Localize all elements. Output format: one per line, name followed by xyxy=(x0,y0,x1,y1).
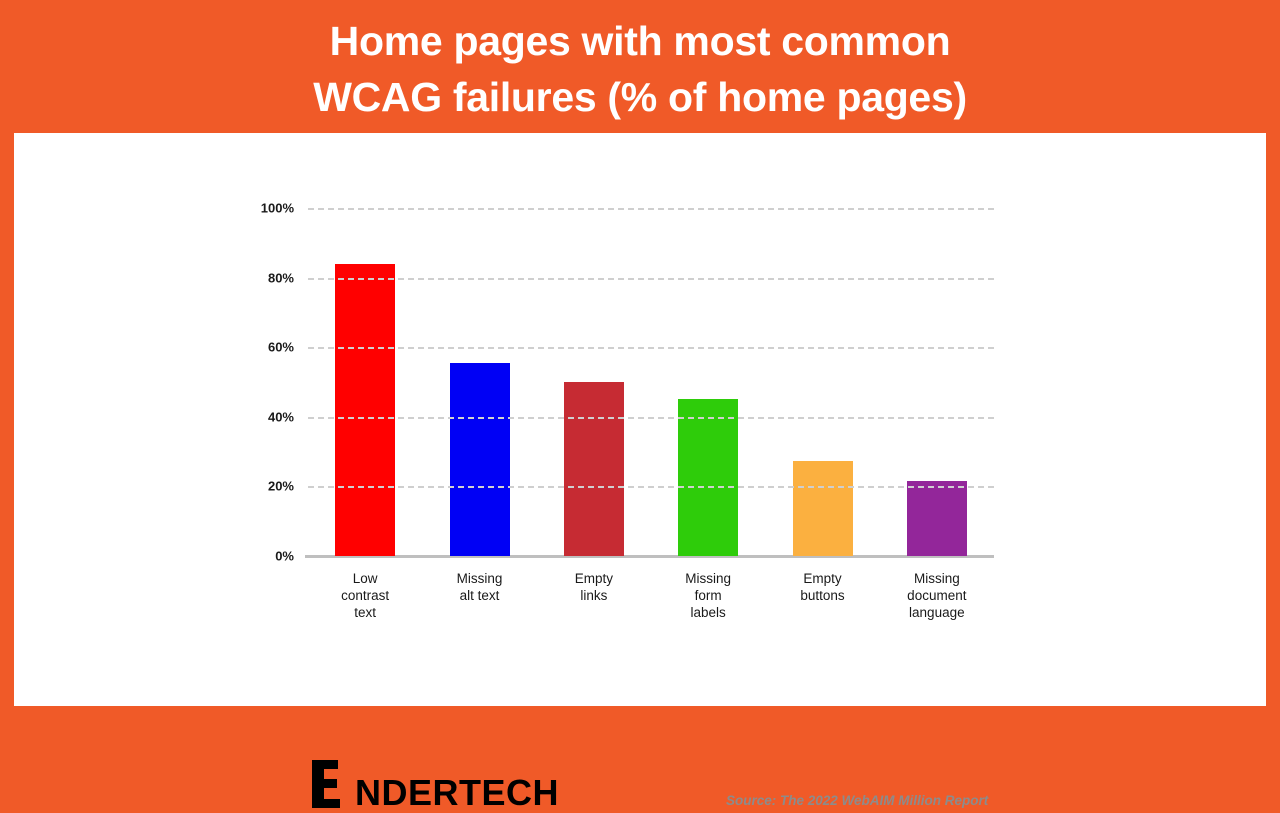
bar[interactable] xyxy=(335,264,395,556)
bar-group[interactable]: Missing alt text xyxy=(450,208,510,556)
slide-root: Home pages with most common WCAG failure… xyxy=(0,0,1280,720)
bar[interactable] xyxy=(793,461,853,556)
bar-group[interactable]: Empty buttons xyxy=(793,208,853,556)
x-axis-category-label: Missing form labels xyxy=(685,570,731,621)
y-axis-tick-label: 0% xyxy=(275,549,294,564)
x-axis-category-label: Missing document language xyxy=(907,570,966,621)
x-axis-category-label: Empty links xyxy=(575,570,613,604)
x-axis-category-label: Missing alt text xyxy=(457,570,503,604)
y-axis-tick-label: 40% xyxy=(268,409,294,424)
slide-header: Home pages with most common WCAG failure… xyxy=(0,0,1280,133)
gridline xyxy=(308,208,994,210)
bar[interactable] xyxy=(907,481,967,556)
gridline xyxy=(308,486,994,488)
y-axis-tick-label: 20% xyxy=(268,479,294,494)
page-title-line-2: WCAG failures (% of home pages) xyxy=(313,69,967,125)
chart-source-note: Source: The 2022 WebAIM Million Report xyxy=(726,793,988,808)
y-axis-tick-label: 60% xyxy=(268,340,294,355)
bar[interactable] xyxy=(564,382,624,556)
bar[interactable] xyxy=(450,363,510,556)
x-axis-category-label: Empty buttons xyxy=(800,570,844,604)
content-panel: Low contrast textMissing alt textEmpty l… xyxy=(14,133,1266,706)
gridline xyxy=(308,347,994,349)
bar-group[interactable]: Low contrast text xyxy=(335,208,395,556)
bar-group[interactable]: Missing form labels xyxy=(678,208,738,556)
y-axis-tick-label: 80% xyxy=(268,270,294,285)
chart-plot-area: Low contrast textMissing alt textEmpty l… xyxy=(308,208,994,556)
bar-group[interactable]: Empty links xyxy=(564,208,624,556)
bar[interactable] xyxy=(678,399,738,556)
gridline xyxy=(308,278,994,280)
page-title-line-1: Home pages with most common xyxy=(330,13,951,69)
y-axis-tick-label: 100% xyxy=(261,201,294,216)
endertech-logo: NDERTECH xyxy=(310,756,559,812)
bar-series: Low contrast textMissing alt textEmpty l… xyxy=(308,208,994,556)
x-axis-category-label: Low contrast text xyxy=(341,570,389,621)
bar-chart: Low contrast textMissing alt textEmpty l… xyxy=(14,133,1266,706)
endertech-logo-mark-icon xyxy=(310,756,354,812)
endertech-logo-text: NDERTECH xyxy=(355,775,559,811)
bar-group[interactable]: Missing document language xyxy=(907,208,967,556)
gridline xyxy=(308,417,994,419)
